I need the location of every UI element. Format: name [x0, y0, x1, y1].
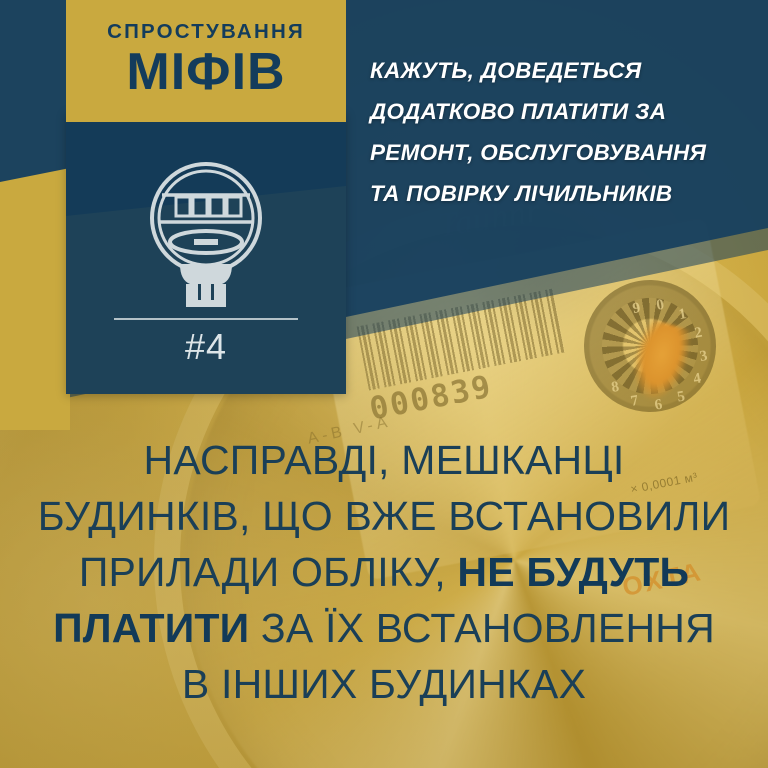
myth-busting-poster: Tauhnr 000839 A-B V-A 9012345678 × 0,000… [0, 0, 768, 768]
icon-card-divider [114, 318, 298, 320]
myth-answer-line-3-bold: НЕ БУДУТЬ [457, 549, 689, 595]
myth-answer-line-4-regular: ЗА ЇХ ВСТАНОВЛЕННЯ [249, 605, 715, 651]
myth-answer-text: НАСПРАВДІ, МЕШКАНЦІ БУДИНКІВ, ЩО ВЖЕ ВСТ… [0, 432, 768, 712]
page-title: СПРОСТУВАННЯ МІФІВ [66, 22, 346, 98]
myth-answer-line-4: ПЛАТИТИ ЗА ЇХ ВСТАНОВЛЕННЯ [0, 600, 768, 656]
myth-answer-line-4-bold: ПЛАТИТИ [53, 605, 249, 651]
page-title-line2: МІФІВ [66, 46, 346, 98]
myth-answer-line-3: ПРИЛАДИ ОБЛІКУ, НЕ БУДУТЬ [0, 544, 768, 600]
myth-answer-line-3-regular: ПРИЛАДИ ОБЛІКУ, [79, 549, 458, 595]
myth-claim-line-4: ТА ПОВІРКУ ЛІЧИЛЬНИКІВ [370, 173, 762, 214]
myth-answer-line-1: НАСПРАВДІ, МЕШКАНЦІ [0, 432, 768, 488]
myth-number-label: #4 [66, 326, 346, 368]
myth-answer-line-5: В ІНШИХ БУДИНКАХ [0, 656, 768, 712]
myth-claim-line-2: ДОДАТКОВО ПЛАТИТИ ЗА [370, 91, 762, 132]
myth-claim-line-1: КАЖУТЬ, ДОВЕДЕТЬСЯ [370, 50, 762, 91]
electricity-meter-icon [66, 160, 346, 308]
myth-claim-line-3: РЕМОНТ, ОБСЛУГОВУВАННЯ [370, 132, 762, 173]
myth-claim-text: КАЖУТЬ, ДОВЕДЕТЬСЯ ДОДАТКОВО ПЛАТИТИ ЗА … [370, 50, 762, 214]
page-title-line1: СПРОСТУВАННЯ [66, 22, 346, 43]
myth-answer-line-2: БУДИНКІВ, ЩО ВЖЕ ВСТАНОВИЛИ [0, 488, 768, 544]
